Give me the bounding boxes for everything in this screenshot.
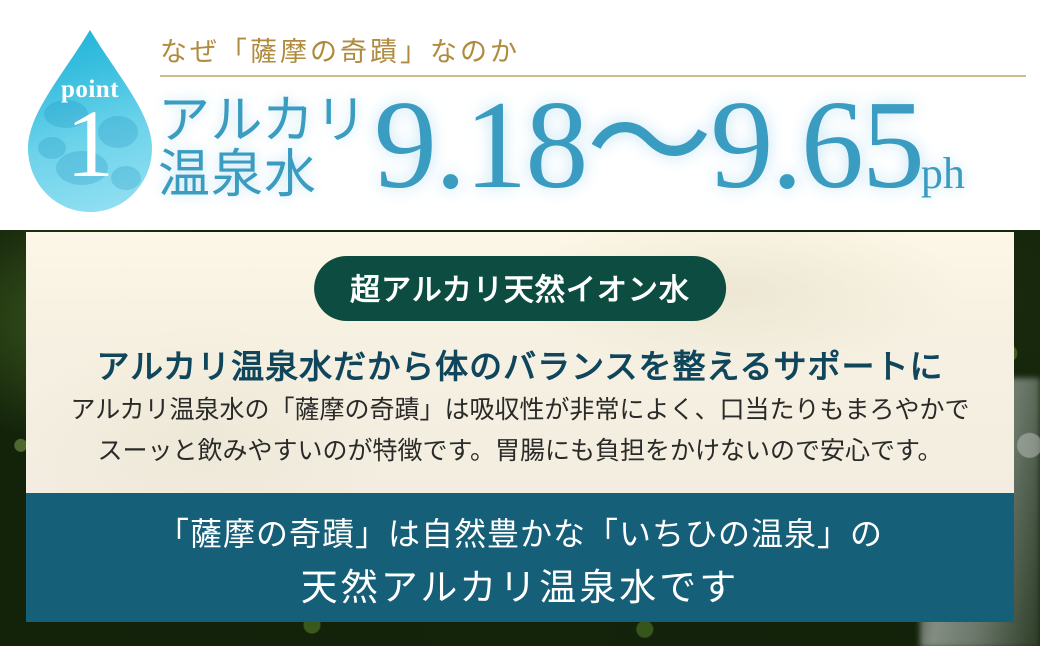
lead-text: アルカリ温泉水だから体のバランスを整えるサポートに [26, 340, 1014, 388]
status-badge: 超アルカリ天然イオン水 [314, 256, 726, 321]
footer-banner: 「薩摩の奇蹟」は自然豊かな「いちひの温泉」の 天然アルカリ温泉水です [26, 493, 1014, 622]
ph-value: 9.18〜9.65 [374, 88, 923, 204]
point-drop-badge: point 1 [26, 28, 154, 214]
water-drop-icon [26, 28, 154, 214]
content-panel: 超アルカリ天然イオン水 アルカリ温泉水だから体のバランスを整えるサポートに アル… [26, 232, 1014, 493]
body-line-2: スーッと飲みやすいのが特徴です。胃腸にも負担をかけないので安心です。 [26, 431, 1014, 472]
body-copy: アルカリ温泉水の「薩摩の奇蹟」は吸収性が非常によく、口当たりもまろやかで スーッ… [26, 390, 1014, 471]
footer-line-1: 「薩摩の奇蹟」は自然豊かな「いちひの温泉」の [26, 509, 1014, 555]
promo-banner: point 1 なぜ「薩摩の奇蹟」なのか アルカリ 温泉水 9.18〜9.65 … [0, 0, 1040, 646]
ph-unit: ph [921, 152, 965, 204]
headline-row: アルカリ 温泉水 9.18〜9.65 ph [158, 88, 965, 204]
footer-line-2: 天然アルカリ温泉水です [26, 557, 1014, 611]
kicker-text: なぜ「薩摩の奇蹟」なのか [160, 30, 520, 69]
headline-japanese: アルカリ 温泉水 [158, 94, 368, 204]
body-line-1: アルカリ温泉水の「薩摩の奇蹟」は吸収性が非常によく、口当たりもまろやかで [26, 390, 1014, 431]
